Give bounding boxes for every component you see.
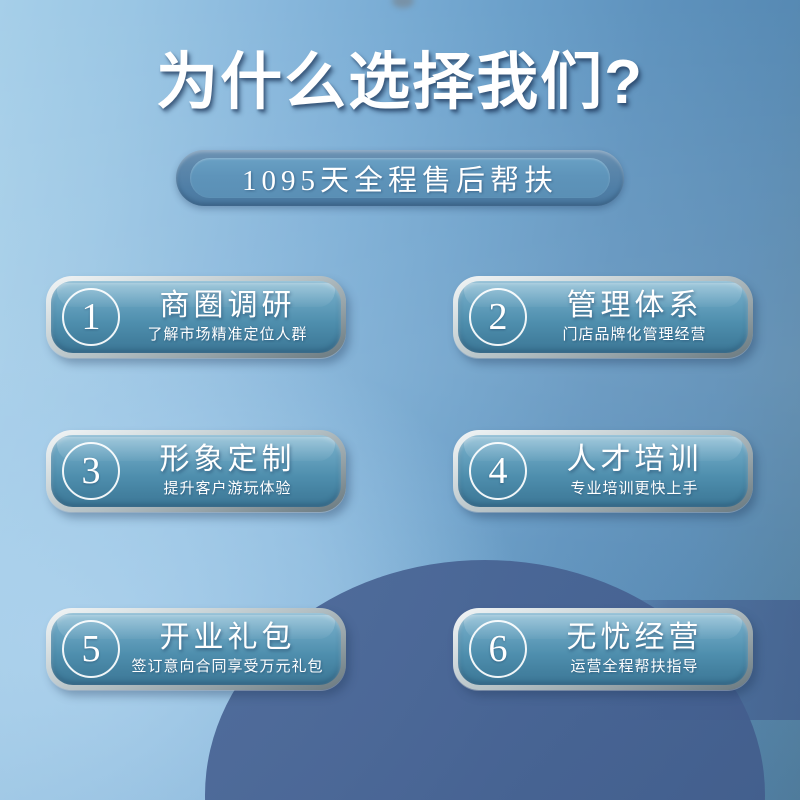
subtitle-banner: 1095天全程售后帮扶 — [176, 150, 624, 206]
background-smudge-artifact — [392, 0, 414, 8]
feature-subtitle: 专业培训更快上手 — [570, 480, 698, 498]
feature-text-block: 无忧经营 运营全程帮扶指导 — [527, 622, 748, 675]
feature-card[interactable]: 5 开业礼包 签订意向合同享受万元礼包 — [46, 608, 346, 690]
page-title: 为什么选择我们? — [0, 52, 800, 114]
feature-card-inner: 3 形象定制 提升客户游玩体验 — [51, 435, 341, 507]
feature-text-block: 管理体系 门店品牌化管理经营 — [527, 290, 748, 343]
feature-card-inner: 6 无忧经营 运营全程帮扶指导 — [458, 613, 748, 685]
feature-card[interactable]: 3 形象定制 提升客户游玩体验 — [46, 430, 346, 512]
feature-text-block: 人才培训 专业培训更快上手 — [527, 444, 748, 497]
feature-number-badge: 6 — [469, 620, 527, 678]
feature-card-inner: 1 商圈调研 了解市场精准定位人群 — [51, 281, 341, 353]
feature-card[interactable]: 1 商圈调研 了解市场精准定位人群 — [46, 276, 346, 358]
feature-title: 无忧经营 — [567, 622, 703, 654]
feature-title: 开业礼包 — [160, 622, 296, 654]
feature-number-badge: 4 — [469, 442, 527, 500]
feature-card[interactable]: 2 管理体系 门店品牌化管理经营 — [453, 276, 753, 358]
feature-text-block: 商圈调研 了解市场精准定位人群 — [120, 290, 341, 343]
feature-title: 人才培训 — [567, 444, 703, 476]
feature-subtitle: 提升客户游玩体验 — [163, 480, 291, 498]
feature-card[interactable]: 6 无忧经营 运营全程帮扶指导 — [453, 608, 753, 690]
feature-number-badge: 5 — [62, 620, 120, 678]
feature-subtitle: 运营全程帮扶指导 — [570, 658, 698, 676]
feature-text-block: 开业礼包 签订意向合同享受万元礼包 — [120, 622, 341, 675]
feature-number-badge: 3 — [62, 442, 120, 500]
feature-subtitle: 门店品牌化管理经营 — [562, 326, 706, 344]
subtitle-banner-inner: 1095天全程售后帮扶 — [190, 158, 610, 198]
feature-subtitle: 签订意向合同享受万元礼包 — [131, 658, 323, 676]
feature-title: 商圈调研 — [160, 290, 296, 322]
feature-card-inner: 4 人才培训 专业培训更快上手 — [458, 435, 748, 507]
promo-poster: 为什么选择我们? 1095天全程售后帮扶 1 商圈调研 了解市场精准定位人群 2… — [0, 0, 800, 800]
background-left-wash — [0, 300, 520, 800]
feature-card[interactable]: 4 人才培训 专业培训更快上手 — [453, 430, 753, 512]
feature-text-block: 形象定制 提升客户游玩体验 — [120, 444, 341, 497]
feature-card-inner: 5 开业礼包 签订意向合同享受万元礼包 — [51, 613, 341, 685]
feature-number-badge: 1 — [62, 288, 120, 346]
feature-title: 管理体系 — [567, 290, 703, 322]
feature-title: 形象定制 — [160, 444, 296, 476]
subtitle-text: 1095天全程售后帮扶 — [242, 157, 558, 199]
feature-card-inner: 2 管理体系 门店品牌化管理经营 — [458, 281, 748, 353]
feature-subtitle: 了解市场精准定位人群 — [147, 326, 307, 344]
feature-number-badge: 2 — [469, 288, 527, 346]
